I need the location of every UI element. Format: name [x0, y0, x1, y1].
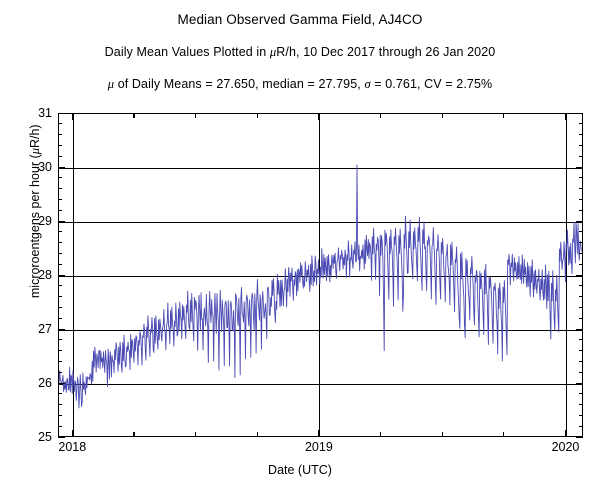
- y-axis-tick: [58, 253, 62, 254]
- x-axis-tick: [72, 113, 73, 120]
- y-axis-tick: [576, 437, 583, 438]
- x-axis-tick: [318, 430, 319, 437]
- y-axis-tick: [576, 167, 583, 168]
- x-axis-label: Date (UTC): [0, 464, 600, 477]
- x-axis-tick: [503, 113, 504, 118]
- y-axis-tick: [576, 383, 583, 384]
- y-axis-tick: [58, 123, 62, 124]
- x-axis-tick: [380, 113, 381, 118]
- y-axis-tick: [58, 188, 62, 189]
- y-axis-tick: [579, 145, 583, 146]
- x-axis-tick-label: 2019: [289, 441, 349, 454]
- y-axis-tick: [58, 177, 62, 178]
- y-axis-tick: [58, 275, 65, 276]
- x-axis-tick: [195, 113, 196, 118]
- y-axis-tick: [579, 372, 583, 373]
- y-axis-tick: [579, 350, 583, 351]
- y-axis-tick: [579, 339, 583, 340]
- x-axis-tick: [257, 432, 258, 437]
- x-axis-tick: [380, 432, 381, 437]
- y-axis-tick: [58, 156, 62, 157]
- y-axis-tick: [579, 188, 583, 189]
- y-axis-tick: [579, 199, 583, 200]
- y-axis-tick: [579, 156, 583, 157]
- y-axis-tick: [58, 145, 62, 146]
- chart-page: Median Observed Gamma Field, AJ4CO Daily…: [0, 0, 600, 496]
- x-axis-tick: [565, 113, 566, 120]
- y-axis-tick: [58, 361, 62, 362]
- y-axis-tick: [576, 329, 583, 330]
- y-axis-tick: [579, 415, 583, 416]
- y-axis-tick: [579, 264, 583, 265]
- y-axis-tick: [58, 318, 62, 319]
- y-axis-label: microroentgens per hour (μR/h): [29, 81, 42, 341]
- y-axis-tick: [579, 231, 583, 232]
- y-axis-tick: [58, 285, 62, 286]
- y-axis-tick: [579, 177, 583, 178]
- x-axis-tick: [133, 432, 134, 437]
- y-axis-tick: [579, 210, 583, 211]
- x-axis-tick-label: 2020: [535, 441, 595, 454]
- ylabel-post: R/h): [28, 124, 42, 148]
- y-axis-tick: [58, 350, 62, 351]
- y-axis-tick: [579, 134, 583, 135]
- y-axis-tick: [58, 231, 62, 232]
- y-axis-tick: [58, 264, 62, 265]
- y-axis-tick: [58, 383, 65, 384]
- mu-symbol-ylabel: μ: [28, 148, 42, 154]
- y-axis-tick: [579, 404, 583, 405]
- y-axis-tick: [576, 275, 583, 276]
- y-axis-tick-label: 26: [22, 377, 52, 390]
- y-axis-tick: [579, 242, 583, 243]
- y-axis-tick: [58, 199, 62, 200]
- y-axis-tick: [58, 221, 65, 222]
- y-axis-tick: [58, 329, 65, 330]
- x-axis-tick: [503, 432, 504, 437]
- y-axis-tick: [579, 285, 583, 286]
- y-axis-tick: [58, 404, 62, 405]
- x-axis-tick: [565, 430, 566, 437]
- axis-decorations: 25262728293031201820192020: [0, 0, 600, 496]
- y-axis-tick: [58, 415, 62, 416]
- y-axis-tick: [579, 123, 583, 124]
- x-axis-tick: [72, 430, 73, 437]
- y-axis-tick: [579, 296, 583, 297]
- y-axis-tick: [58, 437, 65, 438]
- x-axis-tick-label: 2018: [42, 441, 102, 454]
- y-axis-tick: [579, 253, 583, 254]
- y-axis-tick: [58, 307, 62, 308]
- y-axis-tick: [58, 113, 65, 114]
- y-axis-tick: [58, 393, 62, 394]
- y-axis-tick: [58, 134, 62, 135]
- ylabel-pre: microroentgens per hour (: [28, 154, 42, 298]
- y-axis-tick: [576, 221, 583, 222]
- y-axis-tick: [576, 113, 583, 114]
- y-axis-tick: [58, 210, 62, 211]
- y-axis-tick: [58, 426, 62, 427]
- x-axis-tick: [442, 113, 443, 118]
- y-axis-tick: [579, 393, 583, 394]
- y-axis-tick: [58, 167, 65, 168]
- y-axis-tick: [58, 242, 62, 243]
- y-axis-tick: [579, 318, 583, 319]
- x-axis-tick: [257, 113, 258, 118]
- y-axis-tick: [579, 361, 583, 362]
- y-axis-tick: [58, 372, 62, 373]
- y-axis-tick: [58, 296, 62, 297]
- x-axis-tick: [133, 113, 134, 118]
- y-axis-tick: [579, 307, 583, 308]
- x-axis-tick: [442, 432, 443, 437]
- x-axis-tick: [318, 113, 319, 120]
- y-axis-tick: [58, 339, 62, 340]
- y-axis-tick: [579, 426, 583, 427]
- x-axis-tick: [195, 432, 196, 437]
